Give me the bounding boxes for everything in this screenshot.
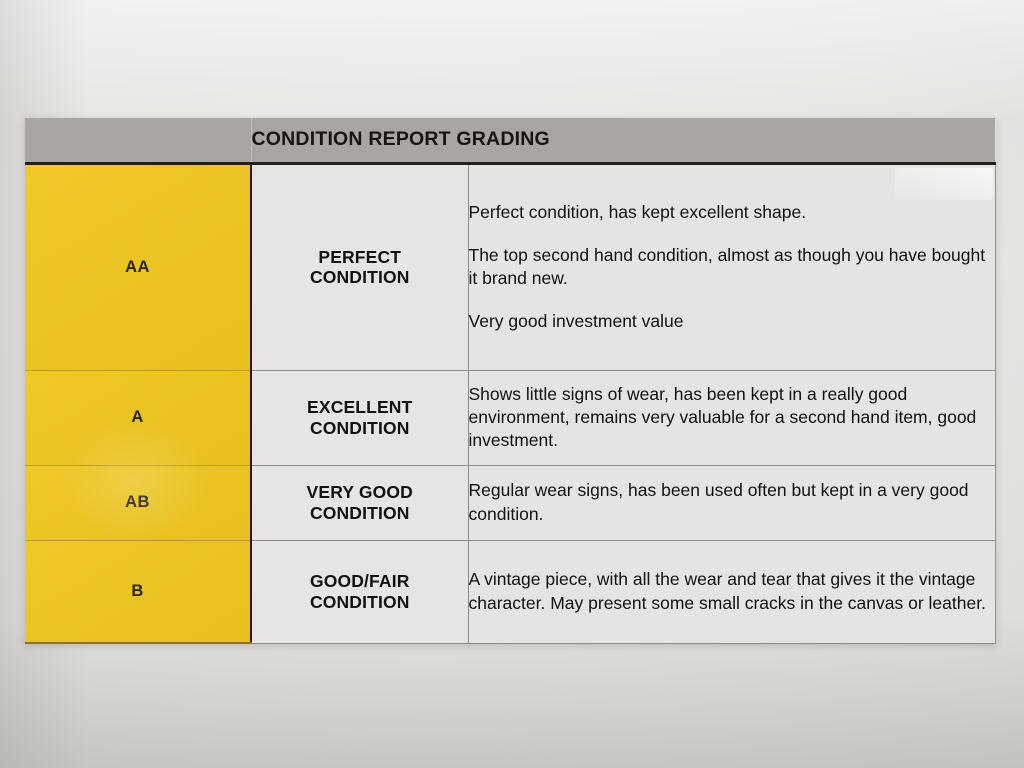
table-row: A EXCELLENT CONDITION Shows little signs… [25, 370, 995, 465]
grade-label-a: EXCELLENT CONDITION [251, 370, 468, 465]
table-header-row: CONDITION REPORT GRADING [25, 118, 995, 163]
grade-label-line1: EXCELLENT [307, 397, 412, 417]
table-row: AB VERY GOOD CONDITION Regular wear sign… [25, 465, 995, 540]
table-row: B GOOD/FAIR CONDITION A vintage piece, w… [25, 540, 995, 643]
description-paragraph: Shows little signs of wear, has been kep… [469, 383, 995, 452]
grade-description-aa: Perfect condition, has kept excellent sh… [468, 163, 995, 370]
grade-label-line2: CONDITION [310, 592, 410, 612]
grade-description-ab: Regular wear signs, has been used often … [468, 465, 995, 540]
grade-code-b: B [25, 540, 251, 643]
grade-code-ab: AB [25, 465, 251, 540]
description-paragraph: Very good investment value [469, 310, 995, 333]
grade-code-aa: AA [25, 163, 251, 370]
page-title: CONDITION REPORT GRADING [251, 118, 995, 163]
description-paragraph: The top second hand condition, almost as… [469, 244, 995, 290]
grade-label-line2: CONDITION [310, 503, 410, 523]
grade-label-line2: CONDITION [310, 418, 410, 438]
grade-label-ab: VERY GOOD CONDITION [251, 465, 468, 540]
grade-label-line1: VERY GOOD [307, 482, 413, 502]
header-spacer-cell [25, 118, 251, 163]
table-row: AA PERFECT CONDITION Perfect condition, … [25, 163, 995, 370]
grade-description-a: Shows little signs of wear, has been kep… [468, 370, 995, 465]
grade-description-b: A vintage piece, with all the wear and t… [468, 540, 995, 643]
grade-label-b: GOOD/FAIR CONDITION [251, 540, 468, 643]
grade-label-aa: PERFECT CONDITION [251, 163, 468, 370]
grade-code-a: A [25, 370, 251, 465]
grade-label-line1: PERFECT [318, 247, 401, 267]
grade-label-line1: GOOD/FAIR [310, 571, 410, 591]
description-paragraph: A vintage piece, with all the wear and t… [469, 568, 995, 614]
description-paragraph: Regular wear signs, has been used often … [469, 479, 995, 525]
description-paragraph: Perfect condition, has kept excellent sh… [469, 201, 995, 224]
grade-label-line2: CONDITION [310, 267, 410, 287]
condition-grading-table: CONDITION REPORT GRADING AA PERFECT COND… [25, 118, 996, 644]
